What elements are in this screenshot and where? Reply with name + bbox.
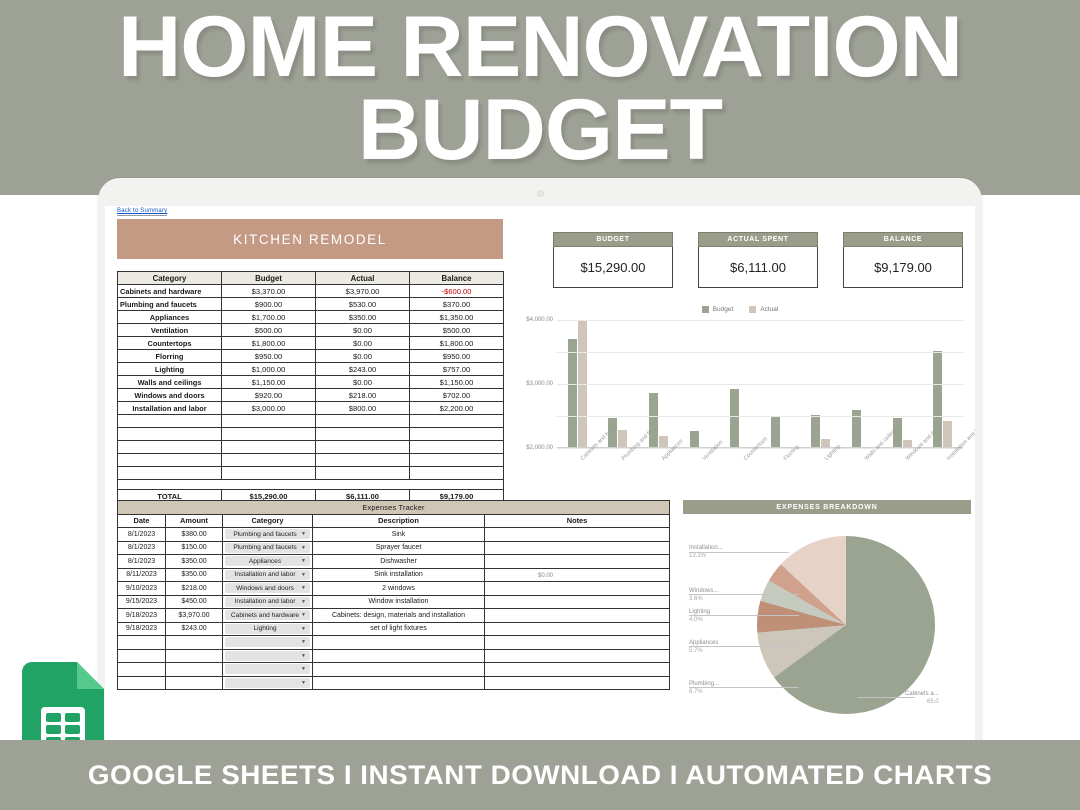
expenses-cell-category[interactable]: ▼ (223, 636, 313, 650)
chevron-down-icon[interactable]: ▼ (301, 545, 306, 551)
legend-label: Actual (760, 306, 778, 313)
category-dropdown[interactable]: Lighting▼ (225, 624, 310, 634)
expenses-cell-description[interactable]: Sink installation (313, 568, 485, 582)
budget-col-balance: Balance (410, 272, 504, 285)
budget-cell-budget: $3,370.00 (222, 285, 316, 298)
budget-empty-cell (410, 441, 504, 454)
camera-dot-icon (537, 190, 544, 197)
budget-empty-cell (316, 467, 410, 480)
budget-table-spacer-row (118, 480, 504, 490)
expenses-table-row: ▼ (118, 649, 670, 663)
expenses-cell-description[interactable] (313, 676, 485, 690)
pie-slice-percent: 8.7% (689, 688, 719, 696)
budget-cell-budget: $950.00 (222, 350, 316, 363)
x-axis-tick: Ventilation (679, 452, 720, 488)
budget-cell-actual: $0.00 (316, 324, 410, 337)
bar-actual (618, 430, 627, 447)
budget-empty-cell (118, 467, 222, 480)
bar-budget (811, 415, 820, 447)
budget-table-row: Cabinets and hardware$3,370.00$3,970.00-… (118, 285, 504, 298)
category-dropdown[interactable]: ▼ (225, 664, 310, 674)
pie-slice-percent: 13.1% (689, 552, 723, 560)
budget-cell-budget: $920.00 (222, 389, 316, 402)
budget-empty-cell (222, 441, 316, 454)
budget-empty-cell (410, 454, 504, 467)
expenses-table-row: ▼ (118, 676, 670, 690)
expenses-cell-category[interactable]: Lighting▼ (223, 622, 313, 636)
budget-empty-cell (118, 415, 222, 428)
expenses-cell-notes[interactable] (485, 622, 670, 636)
expenses-table-row: 8/1/2023$150.00Plumbing and faucets▼Spra… (118, 541, 670, 555)
summary-cards: BUDGET $15,290.00 ACTUAL SPENT $6,111.00… (553, 232, 963, 288)
budget-cell-balance: $1,350.00 (410, 311, 504, 324)
expenses-cell-notes[interactable] (485, 663, 670, 677)
budget-vs-actual-bar-chart: BudgetActual $0.00$1,000.00$2,000.00$3,0… (509, 302, 971, 488)
expenses-cell-amount[interactable]: $218.00 (166, 582, 223, 596)
expenses-table-row: 9/15/2023$450.00Installation and labor▼W… (118, 595, 670, 609)
expenses-cell-amount[interactable] (166, 676, 223, 690)
budget-table-row: Appliances$1,700.00$350.00$1,350.00 (118, 311, 504, 324)
chevron-down-icon[interactable]: ▼ (301, 680, 306, 686)
expenses-cell-notes[interactable] (485, 568, 670, 582)
budget-spacer-cell (118, 480, 504, 490)
budget-cell-budget: $500.00 (222, 324, 316, 337)
tablet-screen: Back to Summary KITCHEN REMODEL Category… (105, 206, 975, 740)
grid-line: $4,000.00 (557, 320, 963, 321)
budget-empty-cell (118, 441, 222, 454)
pie-slice-percent: 5.7% (689, 647, 718, 655)
expenses-tracker-section: Expenses Tracker Date Amount Category De… (117, 500, 669, 690)
expenses-breakdown-title: EXPENSES BREAKDOWN (683, 500, 971, 514)
budget-cell-category: Lighting (118, 363, 222, 376)
grid-line: $3,000.00 (557, 352, 963, 353)
pie-slice-label: Windows...3.6% (689, 587, 718, 603)
expenses-table-row: 9/18/2023$3,970.00Cabinets and hardware▼… (118, 609, 670, 623)
budget-cell-actual: $800.00 (316, 402, 410, 415)
budget-empty-cell (222, 454, 316, 467)
budget-cell-balance: $757.00 (410, 363, 504, 376)
category-dropdown-value: Plumbing and faucets (229, 544, 301, 551)
expenses-cell-category[interactable]: Cabinets and hardware▼ (223, 609, 313, 623)
expenses-cell-notes[interactable] (485, 541, 670, 555)
budget-empty-cell (316, 441, 410, 454)
expenses-col-category: Category (223, 514, 313, 528)
budget-empty-cell (316, 415, 410, 428)
category-dropdown-value: Installation and labor (229, 571, 301, 578)
chevron-down-icon[interactable]: ▼ (301, 558, 306, 564)
budget-cell-category: Appliances (118, 311, 222, 324)
expenses-cell-category[interactable]: Installation and labor▼ (223, 568, 313, 582)
budget-empty-cell (222, 415, 316, 428)
footer-text: GOOGLE SHEETS I INSTANT DOWNLOAD I AUTOM… (0, 740, 1080, 810)
budget-cell-actual: $350.00 (316, 311, 410, 324)
expenses-cell-date[interactable]: 9/15/2023 (118, 595, 166, 609)
budget-empty-cell (316, 428, 410, 441)
expenses-cell-category[interactable]: ▼ (223, 663, 313, 677)
x-axis-tick: Countertops (719, 452, 760, 488)
expenses-cell-category[interactable]: Installation and labor▼ (223, 595, 313, 609)
category-dropdown[interactable]: Cabinets and hardware▼ (225, 610, 310, 620)
legend-item-budget: Budget (702, 306, 734, 313)
legend-item-actual: Actual (749, 306, 778, 313)
y-axis-tick: $3,000.00 (526, 381, 553, 387)
bar-chart-plot-area: $0.00$1,000.00$2,000.00$3,000.00$4,000.0… (557, 320, 963, 448)
category-dropdown[interactable]: Plumbing and faucets▼ (225, 529, 310, 539)
x-axis-tick: Florring (760, 452, 801, 488)
section-title-banner: KITCHEN REMODEL (117, 219, 503, 259)
pie-slice-name: Installation... (689, 544, 723, 552)
expenses-cell-date[interactable] (118, 663, 166, 677)
budget-col-budget: Budget (222, 272, 316, 285)
bar-actual (903, 440, 912, 447)
expenses-cell-description[interactable] (313, 663, 485, 677)
expenses-col-date: Date (118, 514, 166, 528)
bar-chart-legend: BudgetActual (509, 302, 971, 316)
pie-slice-label: Cabinets a...65.0 (905, 690, 939, 706)
budget-table-row: Windows and doors$920.00$218.00$702.00 (118, 389, 504, 402)
budget-cell-category: Windows and doors (118, 389, 222, 402)
budget-cell-balance: $1,150.00 (410, 376, 504, 389)
budget-empty-cell (410, 415, 504, 428)
budget-table-row: Ventilation$500.00$0.00$500.00 (118, 324, 504, 337)
expenses-cell-amount[interactable] (166, 649, 223, 663)
expenses-cell-amount[interactable]: $380.00 (166, 528, 223, 542)
budget-cell-actual: $243.00 (316, 363, 410, 376)
bottom-banner: GOOGLE SHEETS I INSTANT DOWNLOAD I AUTOM… (0, 740, 1080, 810)
budget-col-actual: Actual (316, 272, 410, 285)
chevron-down-icon[interactable]: ▼ (301, 612, 306, 618)
expenses-cell-notes[interactable] (485, 595, 670, 609)
expenses-cell-description[interactable]: Dishwasher (313, 555, 485, 569)
summary-card-actual-spent: ACTUAL SPENT $6,111.00 (698, 232, 818, 288)
category-dropdown[interactable]: Installation and labor▼ (225, 570, 310, 580)
category-dropdown[interactable]: Plumbing and faucets▼ (225, 543, 310, 553)
expenses-cell-notes[interactable] (485, 528, 670, 542)
budget-table-row: Installation and labor$3,000.00$800.00$2… (118, 402, 504, 415)
expenses-table-row: 8/1/2023$380.00Plumbing and faucets▼Sink (118, 528, 670, 542)
x-axis-tick: Installation and l... (922, 452, 963, 488)
expenses-cell-amount[interactable]: $450.00 (166, 595, 223, 609)
budget-empty-cell (316, 454, 410, 467)
top-banner: HOME RENOVATION BUDGET (0, 0, 1080, 197)
budget-cell-category: Installation and labor (118, 402, 222, 415)
legend-label: Budget (713, 306, 734, 313)
budget-cell-actual: $0.00 (316, 376, 410, 389)
budget-cell-budget: $900.00 (222, 298, 316, 311)
category-dropdown-value: Lighting (229, 625, 301, 632)
category-dropdown[interactable]: Installation and labor▼ (225, 597, 310, 607)
expenses-col-description: Description (313, 514, 485, 528)
budget-table-row: Lighting$1,000.00$243.00$757.00 (118, 363, 504, 376)
pie-slice-label: Plumbing...8.7% (689, 680, 719, 696)
budget-table: Category Budget Actual Balance Cabinets … (117, 271, 504, 504)
expenses-table-row: 8/1/2023$350.00Appliances▼Dishwasher (118, 555, 670, 569)
expenses-cell-amount[interactable]: $350.00 (166, 555, 223, 569)
expenses-cell-category[interactable]: Windows and doors▼ (223, 582, 313, 596)
budget-cell-balance: $370.00 (410, 298, 504, 311)
budget-cell-category: Ventilation (118, 324, 222, 337)
expenses-table-body: 8/1/2023$380.00Plumbing and faucets▼Sink… (118, 528, 670, 690)
x-axis-tick: Appliances (638, 452, 679, 488)
budget-table-empty-row (118, 441, 504, 454)
expenses-cell-notes[interactable] (485, 609, 670, 623)
summary-card-balance-caption: BALANCE (843, 232, 963, 247)
budget-cell-category: Countertops (118, 337, 222, 350)
budget-cell-balance: $1,800.00 (410, 337, 504, 350)
pie-slice-percent: 4.0% (689, 616, 710, 624)
expenses-cell-date[interactable] (118, 636, 166, 650)
category-dropdown-value: Cabinets and hardware (229, 612, 301, 619)
expenses-cell-date[interactable]: 8/11/2023 (118, 568, 166, 582)
budget-empty-cell (222, 467, 316, 480)
expenses-table-row: ▼ (118, 663, 670, 677)
title-line-1: HOME RENOVATION (118, 0, 962, 95)
expenses-cell-date[interactable]: 9/10/2023 (118, 582, 166, 596)
budget-cell-budget: $1,700.00 (222, 311, 316, 324)
budget-cell-actual: $530.00 (316, 298, 410, 311)
expenses-table-row: 9/18/2023$243.00Lighting▼set of light fi… (118, 622, 670, 636)
title-line-2: BUDGET (0, 89, 1080, 172)
budget-cell-balance: $2,200.00 (410, 402, 504, 415)
expenses-cell-notes[interactable] (485, 582, 670, 596)
budget-table-row: Countertops$1,800.00$0.00$1,800.00 (118, 337, 504, 350)
bar-budget (730, 389, 739, 447)
category-dropdown-value: Installation and labor (229, 598, 301, 605)
budget-col-category: Category (118, 272, 222, 285)
expenses-cell-date[interactable]: 9/18/2023 (118, 622, 166, 636)
expenses-cell-notes[interactable] (485, 555, 670, 569)
category-dropdown[interactable]: ▼ (225, 637, 310, 647)
category-dropdown[interactable]: Windows and doors▼ (225, 583, 310, 593)
budget-table-empty-row (118, 428, 504, 441)
bar-budget (649, 393, 658, 447)
expenses-cell-category[interactable]: Appliances▼ (223, 555, 313, 569)
budget-table-empty-row (118, 454, 504, 467)
bar-actual (659, 436, 668, 447)
budget-table-row: Florring$950.00$0.00$950.00 (118, 350, 504, 363)
chevron-down-icon[interactable]: ▼ (301, 572, 306, 578)
summary-card-actual-value: $6,111.00 (698, 247, 818, 288)
budget-cell-budget: $1,150.00 (222, 376, 316, 389)
budget-cell-actual: $0.00 (316, 350, 410, 363)
category-dropdown[interactable]: Appliances▼ (225, 556, 310, 566)
chevron-down-icon[interactable]: ▼ (301, 585, 306, 591)
chevron-down-icon[interactable]: ▼ (301, 599, 306, 605)
bar-budget (771, 417, 780, 447)
expenses-cell-description[interactable]: set of light fixtures (313, 622, 485, 636)
budget-cell-actual: $3,970.00 (316, 285, 410, 298)
expenses-tracker-table: Expenses Tracker Date Amount Category De… (117, 500, 670, 690)
summary-card-budget-value: $15,290.00 (553, 247, 673, 288)
expenses-cell-description[interactable]: Sprayer faucet (313, 541, 485, 555)
bar-actual (943, 421, 952, 447)
expenses-cell-description[interactable]: Sink (313, 528, 485, 542)
expenses-cell-amount[interactable]: $3,970.00 (166, 609, 223, 623)
expenses-cell-category[interactable]: ▼ (223, 676, 313, 690)
summary-card-balance-value: $9,179.00 (843, 247, 963, 288)
pie-chart-area: Installation...13.1%Windows...3.6%Lighti… (683, 514, 971, 740)
pie-leader-line (857, 697, 915, 698)
expenses-breakdown-panel: EXPENSES BREAKDOWN Installation...13.1%W… (683, 500, 971, 740)
expenses-tracker-title: Expenses Tracker (118, 501, 670, 515)
expenses-cell-category[interactable]: Plumbing and faucets▼ (223, 541, 313, 555)
expenses-cell-description[interactable]: Cabinets: design, materials and installa… (313, 609, 485, 623)
category-dropdown-value: Windows and doors (229, 585, 301, 592)
chevron-down-icon[interactable]: ▼ (301, 653, 306, 659)
expenses-cell-date[interactable]: 8/1/2023 (118, 528, 166, 542)
budget-cell-category: Cabinets and hardware (118, 285, 222, 298)
budget-table-row: Plumbing and faucets$900.00$530.00$370.0… (118, 298, 504, 311)
budget-cell-balance: $950.00 (410, 350, 504, 363)
tablet-frame: Back to Summary KITCHEN REMODEL Category… (98, 178, 982, 740)
chevron-down-icon[interactable]: ▼ (301, 626, 306, 632)
expenses-cell-date[interactable]: 9/18/2023 (118, 609, 166, 623)
pie-leader-line (689, 687, 799, 688)
pie-leader-line (689, 615, 799, 616)
expenses-table-row: ▼ (118, 636, 670, 650)
bar-actual (821, 439, 830, 447)
budget-cell-category: Walls and ceilings (118, 376, 222, 389)
x-axis-tick: Windows and do... (882, 452, 923, 488)
budget-cell-actual: $0.00 (316, 337, 410, 350)
budget-empty-cell (222, 428, 316, 441)
category-dropdown-value: Appliances (229, 558, 301, 565)
legend-swatch-icon (749, 306, 756, 313)
y-axis-tick: $2,000.00 (526, 445, 553, 451)
chevron-down-icon[interactable]: ▼ (301, 639, 306, 645)
expenses-cell-description[interactable]: 2 windows (313, 582, 485, 596)
expenses-cell-notes[interactable] (485, 636, 670, 650)
pie-leader-line (689, 646, 799, 647)
x-axis-tick: Lighting (801, 452, 842, 488)
budget-table-empty-row (118, 467, 504, 480)
expenses-cell-description[interactable]: Window installation (313, 595, 485, 609)
category-dropdown[interactable]: ▼ (225, 651, 310, 661)
y-axis-tick: $4,000.00 (526, 317, 553, 323)
expenses-cell-date[interactable] (118, 676, 166, 690)
expenses-cell-description[interactable] (313, 636, 485, 650)
back-to-summary-link[interactable]: Back to Summary (117, 208, 167, 216)
budget-empty-cell (118, 428, 222, 441)
pie-leader-line (689, 552, 789, 553)
budget-empty-cell (118, 454, 222, 467)
summary-card-balance: BALANCE $9,179.00 (843, 232, 963, 288)
summary-card-budget: BUDGET $15,290.00 (553, 232, 673, 288)
pie-slice-percent: 3.6% (689, 595, 718, 603)
page-title: HOME RENOVATION BUDGET (0, 6, 1080, 171)
x-axis-tick: Cabinets and har... (557, 452, 598, 488)
budget-empty-cell (410, 467, 504, 480)
expenses-cell-notes[interactable] (485, 649, 670, 663)
expenses-cell-date[interactable] (118, 649, 166, 663)
pie-slice-label: Lighting4.0% (689, 608, 710, 624)
expenses-cell-date[interactable]: 8/1/2023 (118, 555, 166, 569)
budget-cell-budget: $1,800.00 (222, 337, 316, 350)
expenses-col-notes: Notes (485, 514, 670, 528)
bar-budget (690, 431, 699, 447)
pie-leader-line (689, 594, 799, 595)
expenses-cell-category[interactable]: Plumbing and faucets▼ (223, 528, 313, 542)
x-axis-tick: Plumbing and fa... (598, 452, 639, 488)
budget-cell-budget: $3,000.00 (222, 402, 316, 415)
budget-cell-category: Plumbing and faucets (118, 298, 222, 311)
expenses-cell-amount[interactable]: $350.00 (166, 568, 223, 582)
expenses-header-row: Date Amount Category Description Notes (118, 514, 670, 528)
expenses-cell-amount[interactable]: $243.00 (166, 622, 223, 636)
budget-cell-budget: $1,000.00 (222, 363, 316, 376)
expenses-cell-description[interactable] (313, 649, 485, 663)
budget-cell-balance: -$600.00 (410, 285, 504, 298)
pie-slice-percent: 65.0 (905, 698, 939, 706)
pie-slice-label: Appliances5.7% (689, 639, 718, 655)
chevron-down-icon[interactable]: ▼ (301, 666, 306, 672)
bar-chart-x-axis-labels: Cabinets and har...Plumbing and fa...App… (557, 452, 963, 488)
budget-cell-category: Florring (118, 350, 222, 363)
expenses-cell-date[interactable]: 8/1/2023 (118, 541, 166, 555)
expenses-col-amount: Amount (166, 514, 223, 528)
summary-card-actual-caption: ACTUAL SPENT (698, 232, 818, 247)
grid-line: $1,000.00 (557, 416, 963, 417)
budget-table-body: Cabinets and hardware$3,370.00$3,970.00-… (118, 285, 504, 504)
chevron-down-icon[interactable]: ▼ (301, 531, 306, 537)
expenses-table-row: 9/10/2023$218.00Windows and doors▼2 wind… (118, 582, 670, 596)
budget-cell-balance: $500.00 (410, 324, 504, 337)
spreadsheet: Back to Summary KITCHEN REMODEL Category… (105, 206, 975, 740)
budget-cell-actual: $218.00 (316, 389, 410, 402)
summary-card-budget-caption: BUDGET (553, 232, 673, 247)
bar-budget (568, 339, 577, 447)
category-dropdown-value: Plumbing and faucets (229, 531, 301, 538)
budget-cell-balance: $702.00 (410, 389, 504, 402)
budget-table-row: Walls and ceilings$1,150.00$0.00$1,150.0… (118, 376, 504, 389)
grid-line: $2,000.00 (557, 384, 963, 385)
expenses-cell-amount[interactable]: $150.00 (166, 541, 223, 555)
budget-table-header-row: Category Budget Actual Balance (118, 272, 504, 285)
expenses-cell-notes[interactable] (485, 676, 670, 690)
budget-table-empty-row (118, 415, 504, 428)
expenses-cell-amount[interactable] (166, 663, 223, 677)
x-axis-tick: Walls and ceilings (841, 452, 882, 488)
budget-empty-cell (410, 428, 504, 441)
legend-swatch-icon (702, 306, 709, 313)
category-dropdown[interactable]: ▼ (225, 678, 310, 688)
expenses-cell-category[interactable]: ▼ (223, 649, 313, 663)
expenses-cell-amount[interactable] (166, 636, 223, 650)
expenses-table-row: 8/11/2023$350.00Installation and labor▼S… (118, 568, 670, 582)
